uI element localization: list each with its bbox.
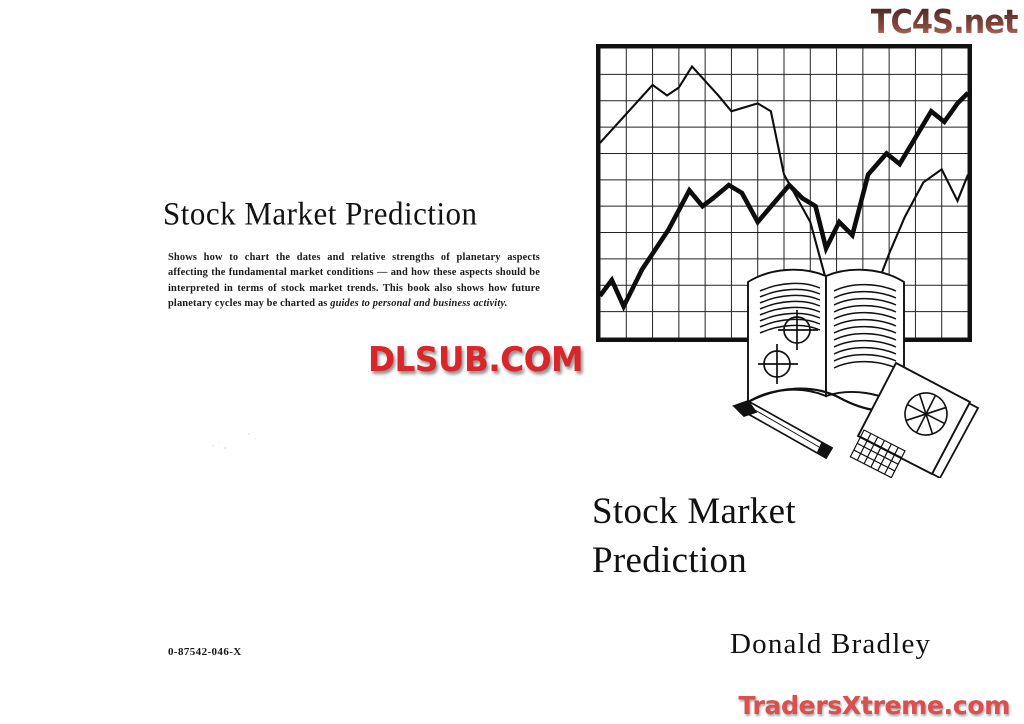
desk-illustration [730, 258, 990, 478]
author-name: Donald Bradley [730, 628, 931, 661]
back-cover-blurb: Shows how to chart the dates and relativ… [168, 250, 540, 312]
watermark-tradersxtreme-outline: TradersXtreme.com [738, 691, 1010, 720]
pencil-icon [734, 401, 832, 458]
watermark-dlsub-outline: DLSUB.COM [368, 340, 583, 380]
book-cover-scan: Stock Market Prediction Shows how to cha… [0, 0, 1024, 724]
front-cover-title: Stock Market Prediction [592, 487, 1012, 585]
isbn-number: 0-87542-046-X [168, 646, 242, 658]
back-cover-blurb-italic: guides to personal and business activity… [330, 298, 507, 309]
watermark-tc4s: TC4S.net [871, 2, 1018, 41]
front-cover-panel: Stock Market Prediction Donald Bradley [560, 0, 1024, 724]
scan-artifact [205, 428, 265, 456]
front-cover-title-line2: Prediction [592, 536, 1012, 585]
front-cover-title-line1: Stock Market [592, 491, 796, 532]
back-cover-title: Stock Market Prediction [163, 195, 553, 233]
